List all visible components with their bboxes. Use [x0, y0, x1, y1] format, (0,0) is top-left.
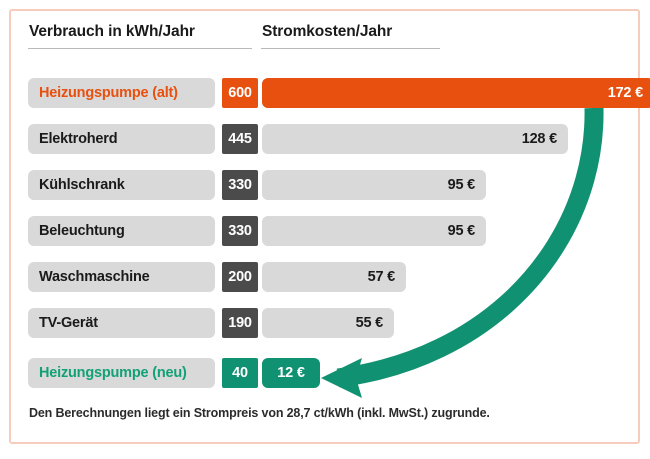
row-cost-value: 57 € [368, 262, 395, 292]
row-cost-value: 172 € [608, 78, 643, 108]
row-consumption-value: 200 [222, 262, 258, 292]
row-cost-bar: 95 € [262, 216, 486, 246]
row-consumption-box: 40 [222, 358, 258, 388]
row-consumption-box: 200 [222, 262, 258, 292]
row-cost-value: 95 € [448, 170, 475, 200]
row-cost-value: 128 € [522, 124, 557, 154]
row-label: TV-Gerät [39, 308, 98, 338]
row-cost-bar: 128 € [262, 124, 568, 154]
row-label: Heizungspumpe (neu) [39, 358, 187, 388]
row-consumption-value: 445 [222, 124, 258, 154]
row-consumption-value: 600 [222, 78, 258, 108]
row-consumption-value: 190 [222, 308, 258, 338]
row-consumption-box: 330 [222, 216, 258, 246]
row-cost-bar: 172 € [262, 78, 650, 108]
row-cost-value: 55 € [356, 308, 383, 338]
row-cost-bar: 57 € [262, 262, 406, 292]
row-label: Heizungspumpe (alt) [39, 78, 178, 108]
energy-cost-infographic: Verbrauch in kWh/Jahr Stromkosten/Jahr H… [0, 0, 650, 454]
row-label: Kühlschrank [39, 170, 125, 200]
row-consumption-box: 330 [222, 170, 258, 200]
row-cost-bar: 95 € [262, 170, 486, 200]
row-cost-value: 95 € [448, 216, 475, 246]
row-cost-bar: 55 € [262, 308, 394, 338]
row-cost-bar: 12 € [262, 358, 320, 388]
row-consumption-box: 600 [222, 78, 258, 108]
row-cost-value: 12 € [262, 358, 320, 388]
bar-rows: Heizungspumpe (alt) 600 172 € Elektroher… [0, 0, 650, 454]
row-consumption-value: 330 [222, 216, 258, 246]
row-label: Beleuchtung [39, 216, 125, 246]
row-consumption-value: 330 [222, 170, 258, 200]
row-label: Waschmaschine [39, 262, 150, 292]
row-consumption-value: 40 [222, 358, 258, 388]
row-consumption-box: 445 [222, 124, 258, 154]
footnote-text: Den Berechnungen liegt ein Strompreis vo… [29, 406, 490, 420]
row-label: Elektroherd [39, 124, 117, 154]
row-consumption-box: 190 [222, 308, 258, 338]
